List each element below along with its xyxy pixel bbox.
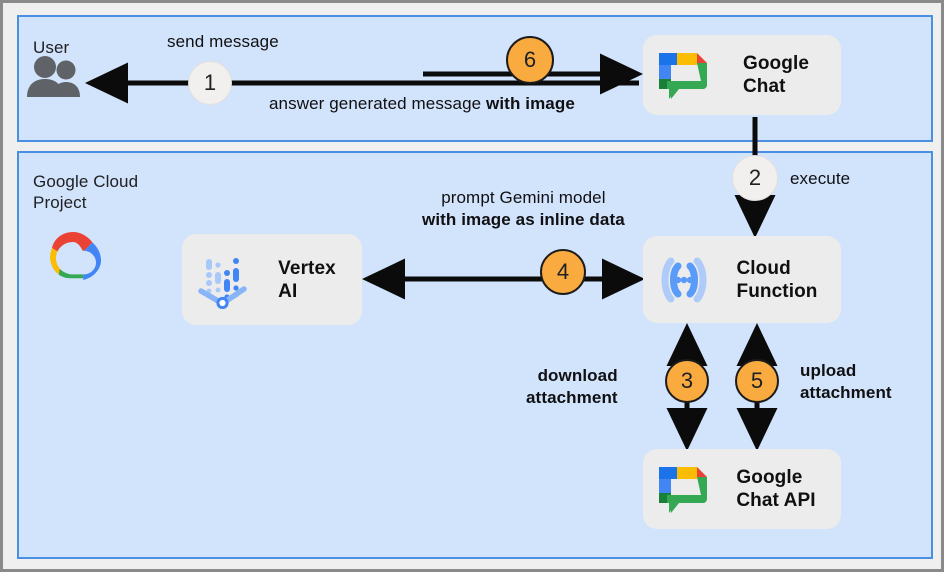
node-cloud-function-label: Cloud Function [736, 257, 817, 303]
step-badge-4: 4 [540, 249, 586, 295]
panel-gcp-title: Google Cloud Project [33, 171, 138, 213]
flow-label-send-message: send message [167, 31, 279, 53]
vertex-ai-icon [194, 251, 252, 309]
flow-label-execute: execute [790, 168, 850, 190]
flow-label-upload-attachment: upload attachment [800, 360, 892, 404]
diagram-canvas: User Google Cloud Project [0, 0, 944, 572]
flow-label-answer-bold: with image [486, 94, 575, 113]
step-badge-2: 2 [732, 155, 778, 201]
node-google-chat-label-wrap: Google Chat [711, 52, 841, 98]
flow-label-download-attachment: download attachment [526, 365, 618, 409]
cloud-function-icon [655, 251, 713, 309]
google-cloud-icon [41, 228, 105, 284]
step-badge-3: 3 [665, 359, 709, 403]
flow-label-answer-normal: answer generated message [269, 94, 486, 113]
node-google-chat-api[interactable]: Google Chat API [643, 449, 841, 529]
step-badge-6: 6 [506, 36, 554, 84]
node-cloud-function-label-wrap: Cloud Function [713, 257, 841, 303]
node-vertex-ai[interactable]: Vertex AI [182, 234, 362, 325]
node-vertex-ai-label-wrap: Vertex AI [252, 257, 362, 303]
node-google-chat-label: Google Chat [743, 52, 809, 98]
flow-label-answer-generated-message: answer generated message with image [269, 93, 575, 115]
flow-label-prompt-line1: prompt Gemini model [441, 188, 605, 207]
node-google-chat-api-label: Google Chat API [736, 466, 815, 512]
step-badge-5: 5 [735, 359, 779, 403]
node-cloud-function[interactable]: Cloud Function [643, 236, 841, 323]
node-vertex-ai-label: Vertex AI [278, 257, 336, 303]
google-chat-icon [655, 461, 711, 517]
google-chat-icon [655, 47, 711, 103]
flow-label-prompt-line2: with image as inline data [422, 209, 625, 231]
node-google-chat[interactable]: Google Chat [643, 35, 841, 115]
step-badge-1: 1 [188, 61, 232, 105]
users-icon [25, 55, 83, 97]
flow-label-prompt-gemini: prompt Gemini model with image as inline… [422, 187, 625, 231]
node-google-chat-api-label-wrap: Google Chat API [711, 466, 841, 512]
